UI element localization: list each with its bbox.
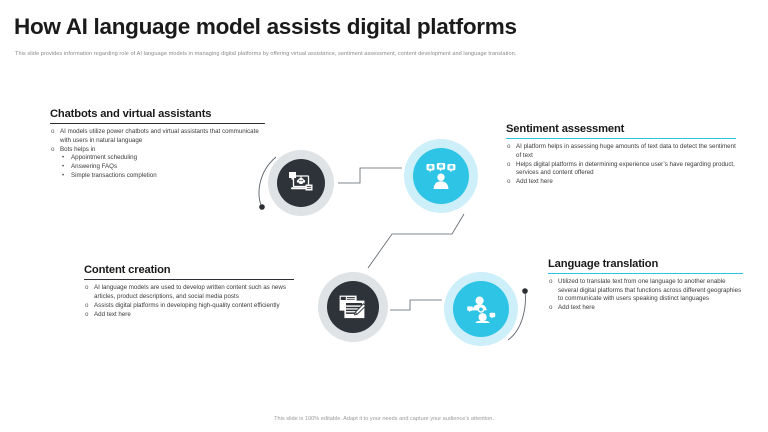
bullet-item: o Add text here — [506, 178, 736, 187]
person-speech-bubbles-icon — [426, 163, 456, 189]
bullet-marker: o — [85, 302, 88, 311]
section-heading-language: Language translation — [548, 258, 743, 270]
bullet-text: AI models utilize power chatbots and vir… — [60, 128, 259, 144]
connector-dot-right — [522, 288, 528, 294]
node-circle-language[interactable] — [453, 281, 509, 337]
bullet-marker: o — [549, 304, 552, 313]
document-pencil-icon — [339, 295, 367, 320]
bullet-text: Assists digital platforms in developing … — [94, 302, 280, 309]
laptop-robot-icon — [288, 171, 314, 195]
sub-bullet-item: • Answering FAQs — [60, 163, 265, 172]
bullet-marker: o — [85, 311, 88, 320]
sub-bullet-marker: • — [62, 172, 64, 181]
sub-bullet-marker: • — [62, 154, 64, 163]
sub-bullet-text: Answering FAQs — [71, 163, 117, 170]
bullet-item: o AI models utilize power chatbots and v… — [50, 128, 265, 145]
node-circle-content[interactable] — [327, 281, 379, 333]
two-people-translate-icon — [466, 295, 496, 323]
bullet-item: o AI language models are used to develop… — [84, 284, 294, 301]
page-title: How AI language model assists digital pl… — [14, 14, 517, 40]
connector-chatbot-to-sentiment — [338, 168, 402, 183]
section-sentiment: Sentiment assessment o AI platform helps… — [506, 123, 736, 188]
bullet-marker: o — [507, 143, 510, 152]
section-heading-chatbots: Chatbots and virtual assistants — [50, 108, 265, 120]
bullet-text: Utilized to translate text from one lang… — [558, 278, 741, 302]
bullet-list-content: o AI language models are used to develop… — [84, 284, 294, 319]
bullet-item: o Add text here — [84, 311, 294, 320]
bullet-marker: o — [507, 161, 510, 170]
bullet-item: o Assists digital platforms in developin… — [84, 302, 294, 311]
bullet-text: Add text here — [558, 304, 595, 311]
node-language-translation[interactable] — [444, 272, 518, 346]
bullet-item: o AI platform helps in assessing huge am… — [506, 143, 736, 160]
node-content-creation[interactable] — [318, 272, 388, 342]
section-heading-sentiment: Sentiment assessment — [506, 123, 736, 135]
bullet-text: Add text here — [516, 178, 553, 185]
node-sentiment[interactable] — [404, 139, 478, 213]
section-rule-sentiment — [506, 138, 736, 140]
sub-bullet-text: Simple transactions completion — [71, 172, 157, 179]
bullet-text: AI language models are used to develop w… — [94, 284, 286, 300]
section-rule-chatbots — [50, 123, 265, 125]
bullet-marker: o — [51, 128, 54, 137]
bullet-item: o Add text here — [548, 304, 743, 313]
bullet-marker: o — [51, 146, 54, 155]
connector-dot-left — [259, 204, 265, 210]
process-diagram-connectors — [0, 0, 768, 432]
bullet-list-language: o Utilized to translate text from one la… — [548, 278, 743, 313]
node-chatbots[interactable] — [268, 150, 334, 216]
section-heading-content: Content creation — [84, 264, 294, 276]
section-content-creation: Content creation o AI language models ar… — [84, 264, 294, 320]
bullet-marker: o — [549, 278, 552, 287]
sub-bullet-text: Appointment scheduling — [71, 154, 137, 161]
connector-content-to-language — [390, 300, 442, 310]
connector-sentiment-to-content — [368, 214, 464, 268]
bullet-list-sentiment: o AI platform helps in assessing huge am… — [506, 143, 736, 187]
bullet-text: AI platform helps in assessing huge amou… — [516, 143, 736, 159]
bullet-item: o Bots helps in • Appointment scheduling… — [50, 146, 265, 181]
bullet-marker: o — [507, 178, 510, 187]
bullet-item: o Helps digital platforms in determining… — [506, 161, 736, 178]
node-circle-sentiment[interactable] — [413, 148, 469, 204]
sub-bullet-list: • Appointment scheduling • Answering FAQ… — [60, 154, 265, 180]
section-rule-language — [548, 273, 743, 275]
footer-note: This slide is 100% editable. Adapt it to… — [0, 416, 768, 422]
bullet-text: Helps digital platforms in determining e… — [516, 161, 735, 177]
node-circle-chatbots[interactable] — [277, 159, 325, 207]
bullet-item: o Utilized to translate text from one la… — [548, 278, 743, 304]
section-rule-content — [84, 279, 294, 281]
section-chatbots: Chatbots and virtual assistants o AI mod… — [50, 108, 265, 181]
bullet-marker: o — [85, 284, 88, 293]
sub-bullet-item: • Simple transactions completion — [60, 172, 265, 181]
bullet-text: Bots helps in — [60, 146, 95, 153]
page-subtitle: This slide provides information regardin… — [15, 51, 516, 57]
section-language-translation: Language translation o Utilized to trans… — [548, 258, 743, 313]
sub-bullet-item: • Appointment scheduling — [60, 154, 265, 163]
bullet-text: Add text here — [94, 311, 131, 318]
bullet-list-chatbots: o AI models utilize power chatbots and v… — [50, 128, 265, 181]
sub-bullet-marker: • — [62, 163, 64, 172]
